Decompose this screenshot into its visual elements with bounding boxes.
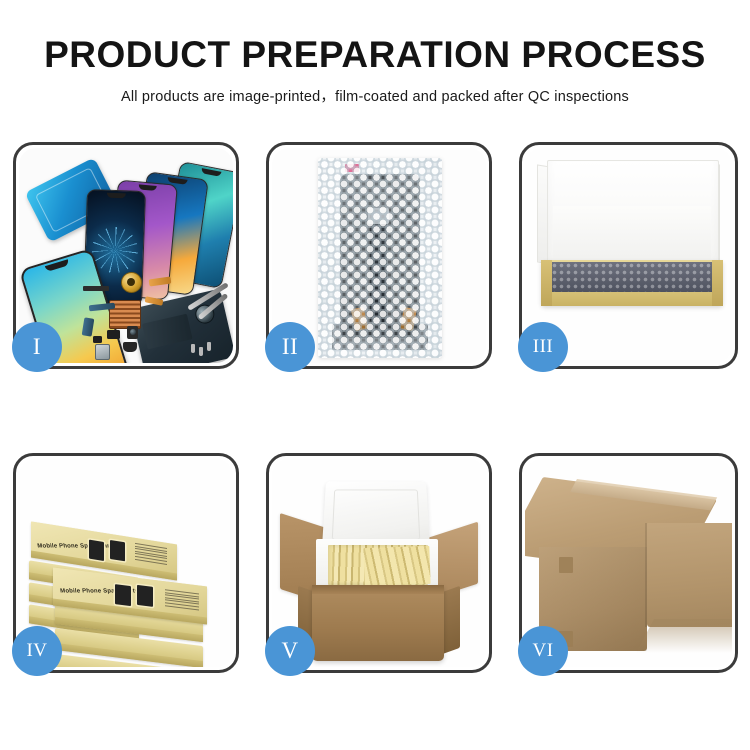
process-step-panel-2[interactable]: II [266, 142, 492, 369]
camera-module-part [127, 326, 138, 339]
bubble-texture [318, 158, 442, 358]
carton-front-panel [312, 585, 444, 661]
step-badge-2: II [265, 322, 315, 372]
kraft-tray-box [541, 260, 723, 306]
ic-chip-part [93, 336, 102, 343]
screw-part [207, 342, 211, 351]
box-artwork-screen [137, 585, 153, 607]
housing-board-strip [142, 314, 193, 350]
process-step-panel-3[interactable]: III [519, 142, 738, 369]
tray-lip-right [712, 260, 723, 306]
box-artwork-screen [110, 540, 125, 561]
dark-bubble-wrap-fill [551, 262, 713, 292]
process-step-panel-5[interactable]: V [266, 453, 492, 673]
ic-chip-part [107, 330, 120, 339]
carton-side-right [442, 586, 460, 655]
process-step-panel-6[interactable]: VI [519, 453, 738, 673]
tray-lip-left [541, 260, 552, 306]
bubble-wrap-bag [318, 158, 442, 358]
yellow-boxes-row [363, 546, 430, 586]
speaker-module-part [123, 342, 137, 352]
box-artwork-screen [89, 540, 104, 561]
screen-graphic [91, 226, 139, 274]
step-badge-3: III [518, 322, 568, 372]
process-step-grid: I II [0, 0, 750, 750]
process-step-panel-4[interactable]: Mobile Phone Spare Parts Mobile Phone Sp… [13, 453, 239, 673]
step-badge-1: I [12, 322, 62, 372]
earpiece-mesh-bar-part [83, 286, 109, 291]
process-step-panel-1[interactable]: I [13, 142, 239, 369]
screw-part [191, 344, 195, 353]
speaker-coil-part [121, 272, 142, 293]
step-badge-4: IV [12, 626, 62, 676]
connector-part [95, 344, 110, 360]
carton-shadow [636, 619, 732, 653]
carton-handle-slot [559, 557, 573, 573]
box-artwork-screen [115, 584, 131, 606]
white-foam-sheet [553, 206, 711, 268]
carton-right-face [647, 523, 732, 627]
step-badge-6: VI [518, 626, 568, 676]
carton-corner-seam [645, 523, 647, 627]
screw-part [199, 347, 203, 356]
step-badge-5: V [265, 626, 315, 676]
